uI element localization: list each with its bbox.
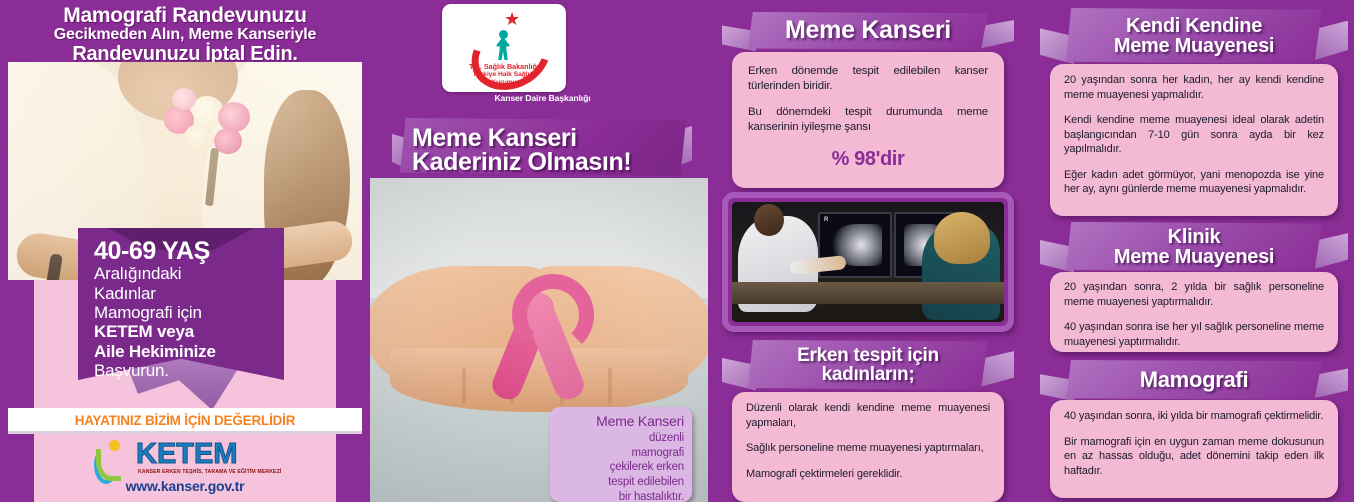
card-paragraph: 40 yaşından sonra, iki yılda bir mamogra…: [1064, 409, 1324, 424]
center-headline-ribbon: Meme Kanseri Kaderiniz Olmasın!: [392, 112, 692, 182]
card-mamografi: Mamografi 40 yaşından sonra, iki yılda b…: [1040, 356, 1348, 498]
card-meme-kanseri: Meme Kanseri Erken dönemde tespit edileb…: [722, 8, 1014, 188]
bubble-highlight: Meme Kanseri: [596, 413, 684, 429]
bubble-line: mamografi: [631, 447, 684, 459]
age-banner-line: Aralığındaki: [94, 264, 284, 283]
card-klinik-meme-muayenesi: Klinik Meme Muayenesi 20 yaşından sonra,…: [1040, 218, 1348, 352]
card-paragraph: 40 yaşından sonra ise her yıl sağlık per…: [1064, 320, 1324, 349]
card-paragraph: Erken dönemde tespit edilebilen kanser t…: [748, 64, 988, 94]
card-erken-tespit: Erken tespit için kadınların; Düzenli ol…: [722, 336, 1014, 502]
card-kendi-kendine-meme-muayenesi: Kendi Kendine Meme Muayenesi 20 yaşından…: [1040, 4, 1348, 216]
age-banner-line: KETEM veya: [94, 322, 284, 341]
age-banner-line: Aile Hekiminize: [94, 342, 284, 361]
card-paragraph: Bu dönemdeki tespit durumunda meme kanse…: [748, 105, 988, 135]
ketem-logo-block: KETEM KANSER ERKEN TEŞHİS, TARAMA VE EĞİ…: [34, 436, 336, 502]
ketem-logo: KETEM KANSER ERKEN TEŞHİS, TARAMA VE EĞİ…: [94, 438, 294, 478]
desk-shape: [732, 282, 1004, 304]
bubble-line: düzenli: [649, 432, 684, 444]
figure-head-icon: [499, 30, 508, 39]
card-paragraph: Sağlık personeline meme muayenesi yaptır…: [746, 441, 990, 456]
strip-shadow: [8, 431, 362, 434]
value-statement-text: HAYATINIZ BİZİM İÇİN DEĞERLİDİR: [8, 413, 362, 428]
headline-line-2: Gecikmeden Alın, Meme Kanseriyle: [0, 26, 370, 44]
ministry-of-health-logo: ★ T.C. Sağlık Bakanlığı Türkiye Halk Sağ…: [442, 4, 566, 92]
center-right-edge: [708, 178, 715, 502]
ministry-caption: Kanser Daire Başkanlığı: [370, 93, 715, 103]
card-paragraph: Bir mamografi için en uygun zaman meme d…: [1064, 435, 1324, 479]
doctor-head: [754, 204, 784, 236]
card-ribbon: Kendi Kendine Meme Muayenesi: [1040, 4, 1348, 68]
card-ribbon: Mamografi: [1040, 356, 1348, 404]
ministry-line-1: T.C. Sağlık Bakanlığı: [442, 62, 566, 71]
bubble-line: bir hastalıktır.: [619, 491, 684, 502]
age-range-value: 40-69 YAŞ: [94, 238, 284, 264]
card-paragraph: 20 yaşından sonra her kadın, her ay kend…: [1064, 73, 1324, 102]
right-edge-strip: [362, 280, 370, 502]
photo-scene: R L: [732, 202, 1004, 322]
bubble-text: Meme Kanseri düzenli mamografi çekilerek…: [558, 413, 684, 502]
card-ribbon: Klinik Meme Muayenesi: [1040, 218, 1348, 276]
card-body: 20 yaşından sonra, 2 yılda bir sağlık pe…: [1050, 272, 1338, 352]
card-ribbon: Erken tespit için kadınların;: [722, 336, 1014, 394]
card-body: 40 yaşından sonra, iki yılda bir mamogra…: [1050, 400, 1338, 498]
card-body: 20 yaşından sonra her kadın, her ay kend…: [1050, 64, 1338, 216]
ketem-subtitle: KANSER ERKEN TEŞHİS, TARAMA VE EĞİTİM ME…: [138, 469, 308, 475]
card-paragraph: Eğer kadın adet görmüyor, yani menopozda…: [1064, 168, 1324, 197]
age-banner-line: Kadınlar: [94, 284, 284, 303]
poster-root: Mamografi Randevunuzu Gecikmeden Alın, M…: [0, 0, 1354, 502]
card-title: Erken tespit için kadınların;: [748, 336, 988, 394]
headline-line-1: Mamografi Randevunuzu: [0, 4, 370, 28]
ministry-line-2: Türkiye Halk Sağlığı Kurumu: [442, 71, 566, 87]
bubble-line: çekilerek erken: [610, 461, 684, 473]
card-ribbon: Meme Kanseri: [722, 8, 1014, 54]
card-paragraph: 20 yaşından sonra, 2 yılda bir sağlık pe…: [1064, 280, 1324, 309]
survival-percentage: % 98'dir: [748, 146, 988, 172]
website-url[interactable]: www.kanser.gov.tr: [34, 478, 336, 494]
age-banner-line: Başvurun.: [94, 361, 284, 380]
card-title: Meme Kanseri: [748, 8, 988, 54]
center-ribbon-line-2: Kaderiniz Olmasın!: [412, 148, 682, 177]
card-paragraph: Mamografi çektirmeleri gereklidir.: [746, 467, 990, 482]
left-headline-block: Mamografi Randevunuzu Gecikmeden Alın, M…: [0, 0, 370, 62]
age-banner-text: 40-69 YAŞ Aralığındaki Kadınlar Mamograf…: [94, 238, 284, 381]
card-paragraph: Düzenli olarak kendi kendine meme muayen…: [746, 401, 990, 430]
card-title: Mamografi: [1066, 356, 1322, 404]
right-purple-strip: [336, 280, 362, 502]
card-body: Düzenli olarak kendi kendine meme muayen…: [732, 392, 1004, 502]
card-title: Kendi Kendine Meme Muayenesi: [1066, 4, 1322, 68]
doctor-reviewing-mammogram-with-patient-photo: R L: [722, 192, 1014, 332]
ketem-wordmark: KETEM: [136, 438, 238, 471]
center-panel: ★ T.C. Sağlık Bakanlığı Türkiye Halk Sağ…: [370, 0, 715, 502]
value-statement-strip: HAYATINIZ BİZİM İÇİN DEĞERLİDİR: [8, 408, 362, 434]
patient-hair: [934, 212, 990, 264]
card-title: Klinik Meme Muayenesi: [1066, 218, 1322, 276]
left-edge-strip: [0, 280, 8, 502]
card-paragraph: Kendi kendine meme muayenesi ideal olara…: [1064, 113, 1324, 157]
bubble-line: tespit edilebilen: [608, 476, 684, 488]
left-purple-strip: [8, 280, 34, 502]
ketem-figure-icon: [94, 440, 134, 476]
age-banner-line: Mamografi için: [94, 303, 284, 322]
card-body: Erken dönemde tespit edilebilen kanser t…: [732, 52, 1004, 188]
age-range-banner: 40-69 YAŞ Aralığındaki Kadınlar Mamograf…: [78, 228, 284, 384]
center-info-bubble: Meme Kanseri düzenli mamografi çekilerek…: [550, 407, 692, 502]
left-panel: Mamografi Randevunuzu Gecikmeden Alın, M…: [0, 0, 370, 502]
